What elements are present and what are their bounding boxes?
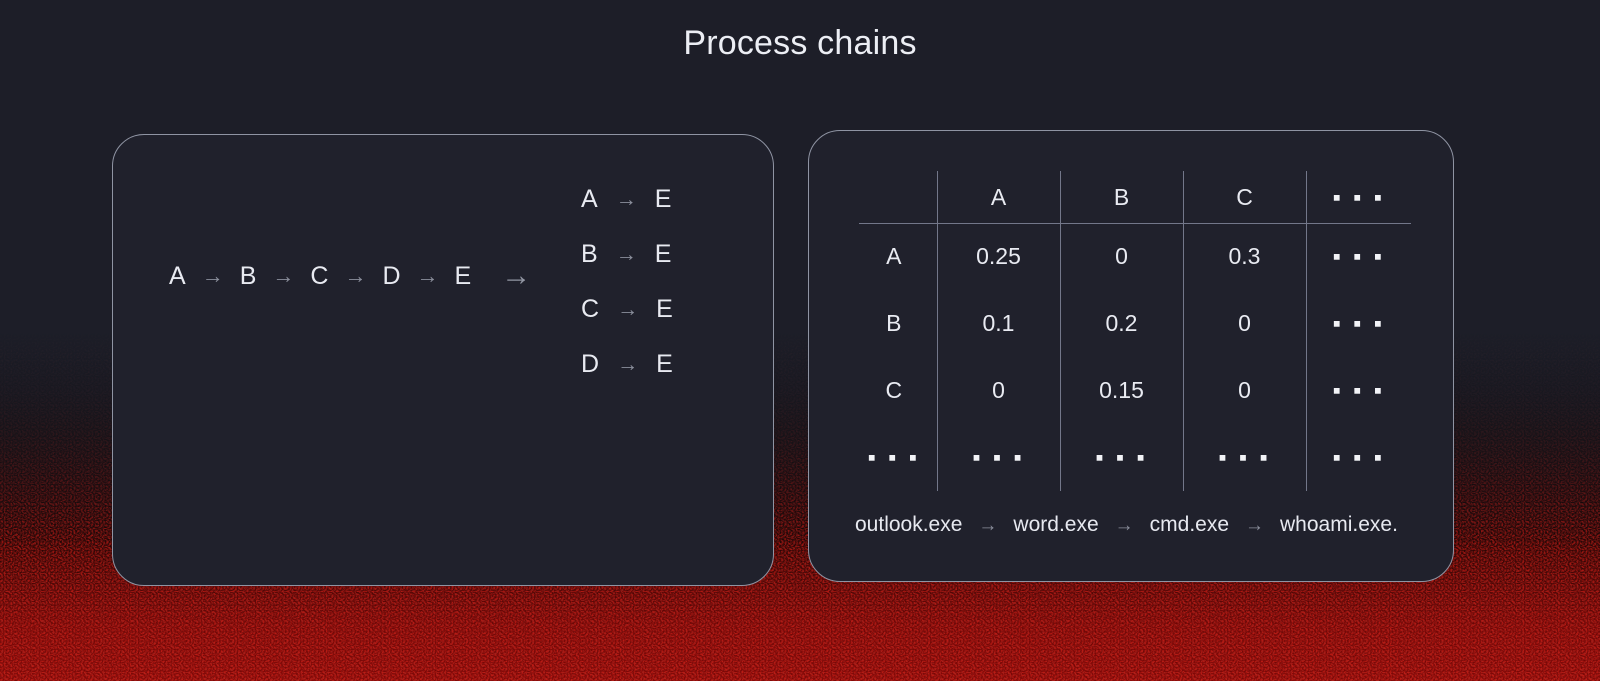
matrix-header-rule — [859, 223, 1411, 224]
table-row: A 0.25 0 0.3 ▪ ▪ ▪ — [851, 223, 1411, 290]
pair-source: D — [581, 350, 599, 379]
list-item: C → E — [581, 295, 673, 324]
list-item: A → E — [581, 185, 673, 214]
arrow-right-icon: → — [978, 516, 997, 535]
arrow-right-icon: → — [415, 265, 441, 287]
matrix-cell: 0.15 — [1060, 357, 1183, 424]
example-step-1: outlook.exe — [855, 513, 962, 537]
matrix-cell-more: ▪ ▪ ▪ — [1183, 424, 1306, 491]
matrix-col-header-b: B — [1060, 171, 1183, 223]
chain-node-d: D — [382, 262, 400, 291]
matrix-cell: 0 — [937, 357, 1060, 424]
pair-source: B — [581, 240, 598, 269]
process-chain-sequence: A → B → C → D → E → — [169, 261, 531, 291]
arrow-right-icon: → — [616, 189, 637, 210]
matrix-cell-more: ▪ ▪ ▪ — [1306, 357, 1411, 424]
arrow-right-icon: → — [342, 265, 368, 287]
matrix-col-header-c: C — [1183, 171, 1306, 223]
matrix-col-header-a: A — [937, 171, 1060, 223]
arrow-right-icon: → — [616, 244, 637, 265]
pair-source: C — [581, 295, 599, 324]
arrow-right-icon: → — [617, 299, 638, 320]
example-step-2: word.exe — [1013, 513, 1098, 537]
arrow-right-icon: → — [617, 354, 638, 375]
table-row: ▪ ▪ ▪ ▪ ▪ ▪ ▪ ▪ ▪ ▪ ▪ ▪ ▪ ▪ ▪ — [851, 424, 1411, 491]
table-row: C 0 0.15 0 ▪ ▪ ▪ — [851, 357, 1411, 424]
matrix-corner-cell — [851, 171, 937, 223]
table-row: B 0.1 0.2 0 ▪ ▪ ▪ — [851, 290, 1411, 357]
transition-matrix-panel: A B C ▪ ▪ ▪ A 0.25 0 0.3 ▪ ▪ ▪ — [808, 130, 1454, 582]
page-title: Process chains — [0, 24, 1600, 63]
arrow-right-large-icon: → — [501, 261, 531, 291]
matrix-row-header-c: C — [851, 357, 937, 424]
matrix-cell: 0 — [1060, 223, 1183, 290]
matrix-row-header-a: A — [851, 223, 937, 290]
chain-node-a: A — [169, 262, 186, 291]
example-step-4: whoami.exe. — [1280, 513, 1398, 537]
transition-matrix: A B C ▪ ▪ ▪ A 0.25 0 0.3 ▪ ▪ ▪ — [851, 171, 1411, 491]
matrix-cell: 0 — [1183, 290, 1306, 357]
matrix-cell-more: ▪ ▪ ▪ — [1306, 223, 1411, 290]
example-process-chain: outlook.exe → word.exe → cmd.exe → whoam… — [855, 513, 1398, 537]
matrix-cell: 0.1 — [937, 290, 1060, 357]
list-item: B → E — [581, 240, 673, 269]
matrix-cell-more: ▪ ▪ ▪ — [1306, 290, 1411, 357]
matrix-row-header-more: ▪ ▪ ▪ — [851, 424, 937, 491]
matrix-cell: 0.3 — [1183, 223, 1306, 290]
example-step-3: cmd.exe — [1150, 513, 1229, 537]
pair-target: E — [656, 295, 673, 324]
matrix-cell-more: ▪ ▪ ▪ — [1306, 424, 1411, 491]
matrix-cell: 0 — [1183, 357, 1306, 424]
matrix-cell: 0.25 — [937, 223, 1060, 290]
pair-source: A — [581, 185, 598, 214]
pair-target: E — [656, 350, 673, 379]
chain-node-b: B — [240, 262, 257, 291]
list-item: D → E — [581, 350, 673, 379]
matrix-cell-more: ▪ ▪ ▪ — [1060, 424, 1183, 491]
chain-node-e: E — [455, 262, 472, 291]
matrix-header-row: A B C ▪ ▪ ▪ — [851, 171, 1411, 223]
matrix-row-header-b: B — [851, 290, 937, 357]
pair-target: E — [655, 240, 672, 269]
matrix-table: A B C ▪ ▪ ▪ A 0.25 0 0.3 ▪ ▪ ▪ — [851, 171, 1411, 491]
arrow-right-icon: → — [200, 265, 226, 287]
arrow-right-icon: → — [1245, 516, 1264, 535]
matrix-cell: 0.2 — [1060, 290, 1183, 357]
derived-pair-list: A → E B → E C → E D → E — [581, 185, 673, 379]
matrix-col-header-more: ▪ ▪ ▪ — [1306, 171, 1411, 223]
arrow-right-icon: → — [270, 265, 296, 287]
pair-target: E — [655, 185, 672, 214]
slide-canvas: Process chains A → B → C → D → E → A → E… — [0, 0, 1600, 681]
process-chain-panel: A → B → C → D → E → A → E B → E C → — [112, 134, 774, 586]
matrix-cell-more: ▪ ▪ ▪ — [937, 424, 1060, 491]
chain-node-c: C — [310, 262, 328, 291]
arrow-right-icon: → — [1115, 516, 1134, 535]
